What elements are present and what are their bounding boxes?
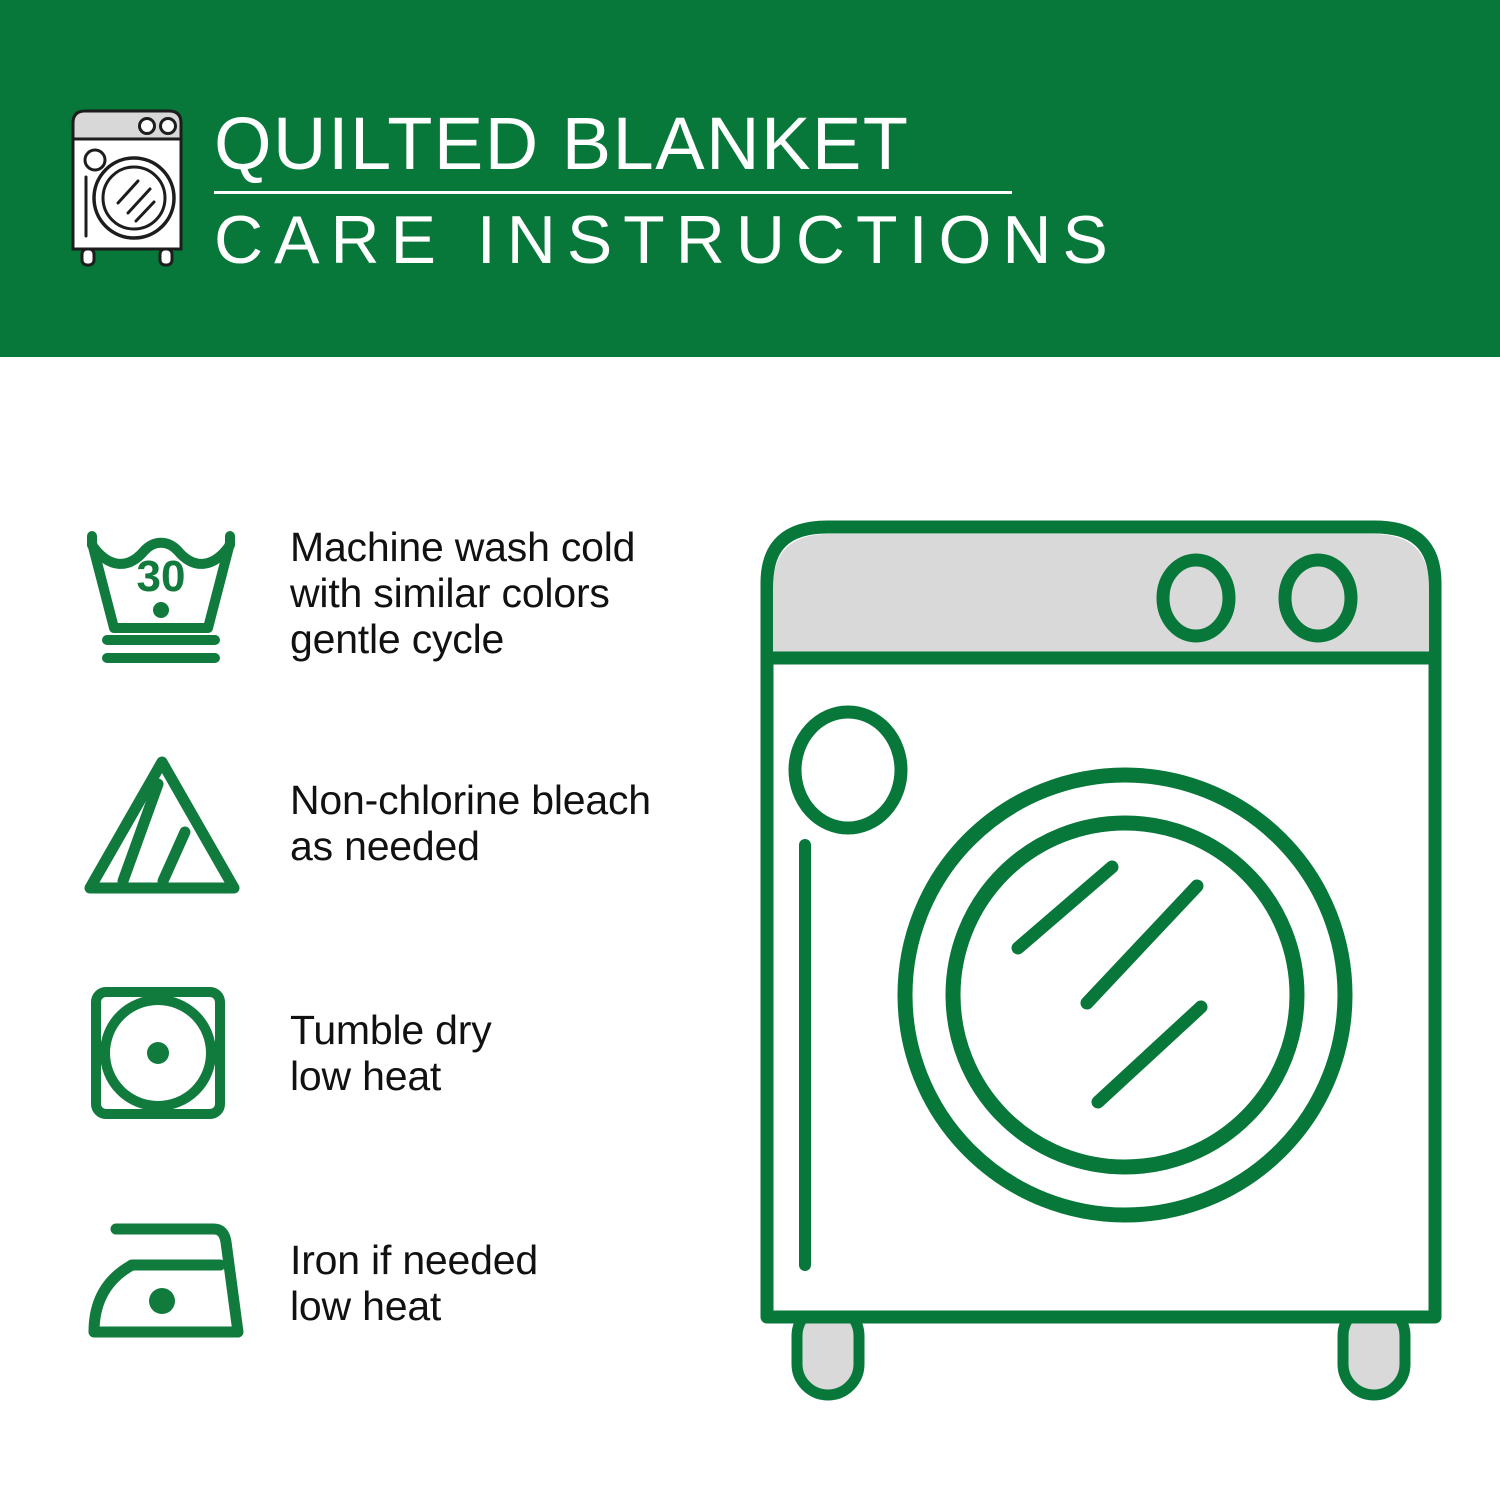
knob-right [1285,560,1351,636]
page-subtitle: CARE INSTRUCTIONS [214,200,1054,280]
care-instruction-list: 30 Machine wash cold with similar colors… [74,500,714,1375]
care-line: Machine wash cold [290,524,635,570]
wash-tub-30-gentle-icon: 30 [74,513,264,673]
care-row-iron: Iron if needed low heat [74,1190,714,1375]
care-label-machine-wash: Machine wash cold with similar colors ge… [264,524,635,662]
header-banner: QUILTED BLANKET CARE INSTRUCTIONS [0,0,1500,357]
front-load-washing-machine-illustration [735,495,1465,1425]
knob-left [1163,560,1229,636]
care-line: Non-chlorine bleach [290,777,651,823]
care-row-bleach: Non-chlorine bleach as needed [74,730,714,915]
care-label-iron: Iron if needed low heat [264,1237,538,1329]
care-line: gentle cycle [290,616,635,662]
care-line: Tumble dry [290,1007,492,1053]
care-line: low heat [290,1283,538,1329]
care-line: with similar colors [290,570,635,616]
detergent-indicator-circle [795,712,901,828]
wash-temperature-value: 30 [137,552,186,601]
care-label-bleach: Non-chlorine bleach as needed [264,777,651,869]
page-title: QUILTED BLANKET [214,104,1054,184]
door-inner-ring [953,823,1297,1167]
care-instructions-poster: QUILTED BLANKET CARE INSTRUCTIONS 30 [0,0,1500,1500]
title-divider-rule [214,191,1012,194]
tumble-dry-low-heat-icon [74,973,264,1133]
iron-low-heat-icon [74,1203,264,1363]
care-line: as needed [290,823,651,869]
header-text-block: QUILTED BLANKET CARE INSTRUCTIONS [214,104,1054,280]
care-row-machine-wash: 30 Machine wash cold with similar colors… [74,500,714,685]
care-label-tumble-dry: Tumble dry low heat [264,1007,492,1099]
washing-machine-logo-icon [64,103,196,271]
non-chlorine-bleach-triangle-icon [74,743,264,903]
care-line: low heat [290,1053,492,1099]
care-line: Iron if needed [290,1237,538,1283]
care-row-tumble-dry: Tumble dry low heat [74,960,714,1145]
